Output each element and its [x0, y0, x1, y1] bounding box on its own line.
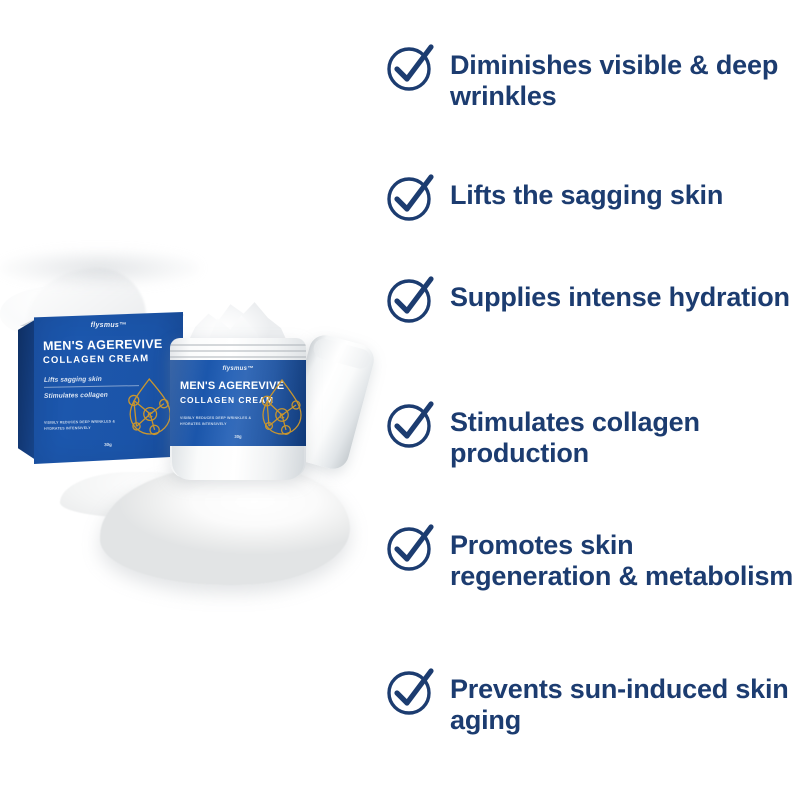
product-scene: flysmus™ MEN'S AGEREVIVE COLLAGEN CREAM …	[0, 250, 400, 630]
benefit-item: Lifts the sagging skin	[384, 178, 800, 224]
benefit-item: Promotes skin regeneration & metabolism	[384, 528, 800, 593]
check-circle-icon	[384, 172, 436, 224]
jar-base	[172, 444, 304, 480]
benefit-item: Prevents sun-induced skin aging	[384, 672, 800, 737]
jar-brand: flysmus™	[170, 366, 306, 372]
benefit-label: Promotes skin regeneration & metabolism	[450, 528, 800, 593]
carton-molecule-letter: C	[147, 411, 153, 420]
product-jar: flysmus™ MEN'S AGEREVIVE COLLAGEN CREAM …	[158, 298, 318, 488]
check-circle-icon	[384, 399, 436, 451]
collagen-molecule-icon: C	[258, 376, 306, 440]
benefit-label: Supplies intense hydration	[450, 280, 800, 313]
benefit-label: Prevents sun-induced skin aging	[450, 672, 800, 737]
jar-net-weight: 30g	[218, 434, 258, 439]
jar-rim-ring	[170, 356, 306, 358]
jar-label: flysmus™ MEN'S AGEREVIVE COLLAGEN CREAM …	[170, 360, 306, 446]
check-circle-icon	[384, 274, 436, 326]
benefit-item: Diminishes visible & deep wrinkles	[384, 48, 800, 113]
check-circle-icon	[384, 42, 436, 94]
benefit-label: Stimulates collagen production	[450, 405, 800, 470]
product-benefits-infographic: flysmus™ MEN'S AGEREVIVE COLLAGEN CREAM …	[0, 0, 800, 800]
jar-fine-print: VISIBLY REDUCES DEEP WRINKLES & HYDRATES…	[180, 416, 260, 428]
carton-net-weight: 30g	[88, 442, 128, 448]
benefit-item: Stimulates collagen production	[384, 405, 800, 470]
jar-rim-ring	[170, 350, 306, 352]
benefits-list: Diminishes visible & deep wrinkles Lifts…	[384, 0, 800, 800]
carton-fine-print: VISIBLY REDUCES DEEP WRINKLES & HYDRATES…	[44, 419, 128, 432]
benefit-item: Supplies intense hydration	[384, 280, 800, 326]
jar-rim-ring	[170, 344, 306, 346]
carton-title: MEN'S AGEREVIVE	[34, 337, 174, 354]
check-circle-icon	[384, 522, 436, 574]
cream-shadow	[0, 250, 200, 286]
benefit-label: Lifts the sagging skin	[450, 178, 800, 211]
jar-molecule-letter: C	[279, 411, 285, 420]
benefit-label: Diminishes visible & deep wrinkles	[450, 48, 800, 113]
check-circle-icon	[384, 666, 436, 718]
